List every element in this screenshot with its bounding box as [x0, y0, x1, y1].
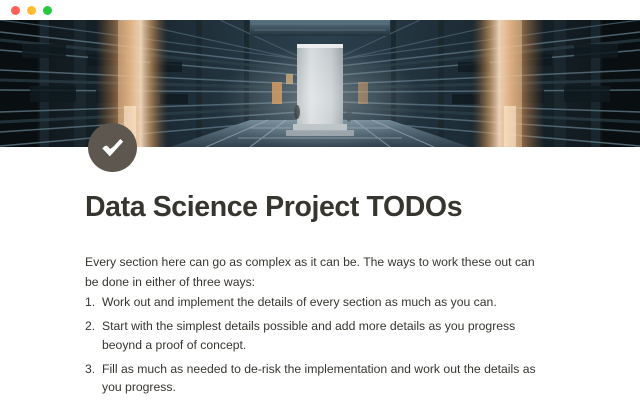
zoom-window-button[interactable]	[43, 6, 52, 15]
app-window: Data Science Project TODOs Every section…	[0, 0, 640, 400]
close-window-button[interactable]	[11, 6, 20, 15]
list-item-number: 1.	[85, 293, 102, 312]
list-item-text: Start with the simplest details possible…	[102, 317, 555, 354]
list-item[interactable]: 1. Work out and implement the details of…	[85, 293, 555, 312]
list-item-number: 2.	[85, 317, 102, 354]
numbered-todo-list: 1. Work out and implement the details of…	[85, 293, 555, 400]
list-item-number: 3.	[85, 360, 102, 397]
minimize-window-button[interactable]	[27, 6, 36, 15]
document-body: Data Science Project TODOs Every section…	[0, 147, 640, 400]
list-item-text: Fill as much as needed to de-risk the im…	[102, 360, 555, 397]
window-titlebar	[0, 0, 640, 20]
check-icon	[99, 134, 126, 161]
check-circle-icon[interactable]	[88, 123, 137, 172]
list-item[interactable]: 3. Fill as much as needed to de-risk the…	[85, 360, 555, 397]
intro-paragraph[interactable]: Every section here can go as complex as …	[85, 252, 547, 292]
page-title[interactable]: Data Science Project TODOs	[85, 190, 565, 224]
list-item[interactable]: 2. Start with the simplest details possi…	[85, 317, 555, 354]
list-item-text: Work out and implement the details of ev…	[102, 293, 555, 312]
